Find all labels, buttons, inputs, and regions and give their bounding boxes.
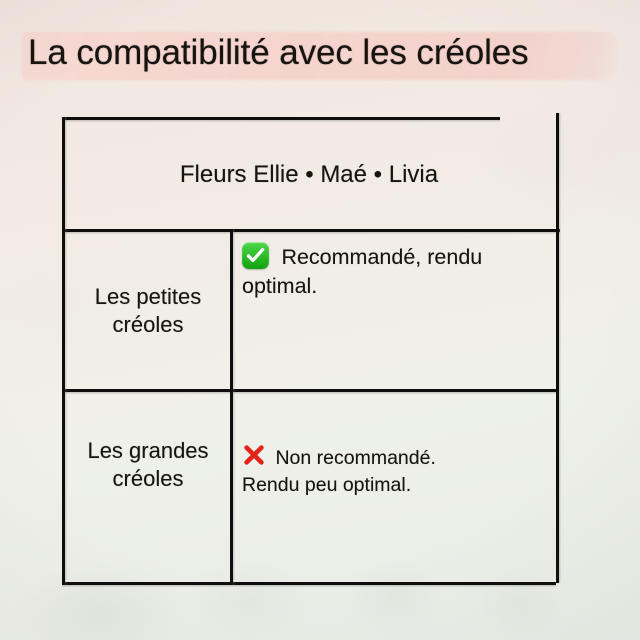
table-header-cell: Fleurs Ellie • Maé • Livia — [65, 120, 553, 229]
table-row: Les grandes créoles — [65, 392, 231, 582]
white-heavy-check-mark-icon — [242, 242, 269, 269]
table-border-right — [556, 113, 559, 583]
table-cell-recommendation-negative: Non recommandé. Rendu peu optimal. — [234, 392, 554, 582]
table-border-bottom — [62, 582, 556, 585]
compatibility-table: Fleurs Ellie • Maé • Livia Les petites c… — [62, 117, 558, 584]
table-row: Les petites créoles — [65, 232, 231, 389]
row-label-grandes-creoles: Les grandes créoles — [65, 437, 231, 493]
row-value-grandes-creoles-line1: Non recommandé. — [275, 447, 435, 469]
page-title: La compatibilité avec les créoles — [20, 28, 620, 84]
row-label-petites-creoles: Les petites créoles — [65, 283, 231, 339]
cross-mark-icon — [242, 444, 266, 468]
row-value-grandes-creoles-line2: Rendu peu optimal. — [242, 474, 411, 496]
table-cell-recommendation-positive: Recommandé, rendu optimal. — [234, 232, 554, 389]
row-value-petites-creoles: Recommandé, rendu optimal. — [242, 245, 482, 298]
slide-canvas: La compatibilité avec les créoles Fleurs… — [0, 0, 640, 640]
page-title-text: La compatibilité avec les créoles — [28, 28, 529, 78]
table-header-text: Fleurs Ellie • Maé • Livia — [180, 161, 438, 189]
